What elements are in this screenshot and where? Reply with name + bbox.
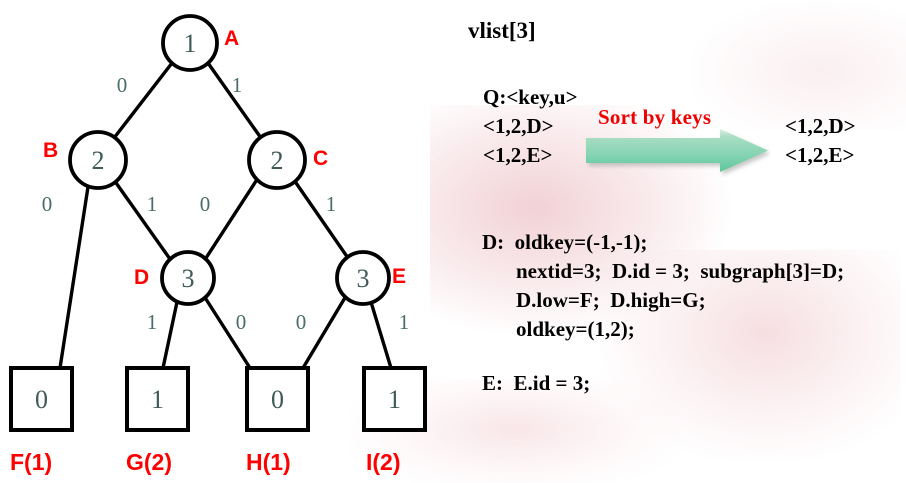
terminal-tag-G: G(2) <box>126 449 172 475</box>
code-line: E: E.id = 3; <box>482 371 590 396</box>
code-line: D.low=F; D.high=G; <box>516 288 706 313</box>
sorted-queue-item: <1,2,E> <box>785 143 854 168</box>
edge-label: 0 <box>117 73 128 97</box>
slide-canvas: 0101011001 1A2B2C3D3E 0F(1)1G(2)0H(1)1I(… <box>0 0 906 483</box>
edge-E-H <box>303 296 346 368</box>
code-line: nextid=3; D.id = 3; subgraph[3]=D; <box>516 259 844 284</box>
edge-D-G <box>163 302 177 368</box>
terminal-value: 0 <box>271 385 284 414</box>
edge-label: 1 <box>147 192 158 216</box>
edge-label: 0 <box>200 192 211 216</box>
terminal-tag-I: I(2) <box>366 449 401 475</box>
terminal-value: 1 <box>388 385 401 414</box>
edge-label: 1 <box>147 310 158 334</box>
edges-group: 0101011001 <box>42 63 410 368</box>
node-tag-E: E <box>392 265 406 288</box>
edge-label: 1 <box>399 310 410 334</box>
queue-item: <1,2,D> <box>483 114 554 139</box>
terminal-tag-F: F(1) <box>10 449 52 475</box>
edge-C-D <box>206 178 258 258</box>
queue-item: <1,2,E> <box>483 143 552 168</box>
vlist-title: vlist[3] <box>468 18 536 44</box>
bdd-diagram: 0101011001 1A2B2C3D3E 0F(1)1G(2)0H(1)1I(… <box>0 0 453 483</box>
node-value: 2 <box>271 146 284 175</box>
edge-B-D <box>114 180 170 259</box>
node-value: 1 <box>184 29 197 58</box>
node-tag-B: B <box>43 139 58 162</box>
node-tag-C: C <box>313 147 328 170</box>
edge-label: 0 <box>296 310 307 334</box>
pseudocode-block: D: oldkey=(-1,-1); nextid=3; D.id = 3; s… <box>482 230 906 430</box>
arrow-shape <box>586 129 768 172</box>
node-tag-A: A <box>224 27 239 50</box>
edge-label: 1 <box>326 192 337 216</box>
terminal-value: 0 <box>35 385 48 414</box>
node-value: 3 <box>182 264 195 293</box>
sort-arrow <box>584 129 770 177</box>
node-value: 3 <box>357 264 370 293</box>
edge-label: 0 <box>236 310 247 334</box>
background-watermark <box>690 0 906 130</box>
nodes-group: 1A2B2C3D3E <box>43 16 406 304</box>
code-line: oldkey=(1,2); <box>516 317 635 342</box>
edge-label: 0 <box>42 192 53 216</box>
edge-E-I <box>371 302 391 368</box>
terminal-value: 1 <box>151 385 164 414</box>
node-tag-D: D <box>134 266 149 289</box>
sorted-queue-item: <1,2,D> <box>785 114 856 139</box>
terminals-group: 0F(1)1G(2)0H(1)1I(2) <box>10 368 425 475</box>
terminal-tag-H: H(1) <box>246 449 291 475</box>
edge-C-E <box>294 180 348 258</box>
edge-B-F <box>60 187 88 368</box>
node-value: 2 <box>92 146 105 175</box>
code-line: D: oldkey=(-1,-1); <box>482 230 647 255</box>
edge-label: 1 <box>232 73 243 97</box>
sort-by-keys-label: Sort by keys <box>598 105 711 130</box>
queue-header: Q:<key,u> <box>483 85 578 110</box>
